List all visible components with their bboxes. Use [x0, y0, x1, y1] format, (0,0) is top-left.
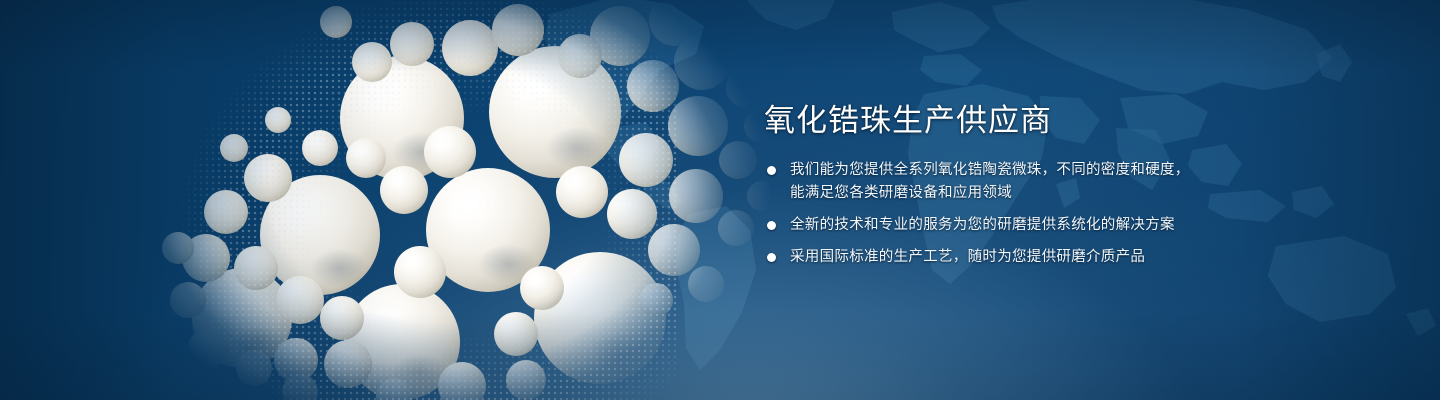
bullet-1-line-2: 能满足您各类研磨设备和应用领域: [790, 182, 1364, 205]
banner-copy: 氧化锆珠生产供应商 我们能为您提供全系列氧化锆陶瓷微珠，不同的密度和硬度， 能满…: [764, 104, 1364, 269]
feature-bullet-2: 全新的技术和专业的服务为您的研磨提供系统化的解决方案: [764, 214, 1364, 237]
feature-bullet-list: 我们能为您提供全系列氧化锆陶瓷微珠，不同的密度和硬度， 能满足您各类研磨设备和应…: [764, 159, 1364, 269]
hero-banner: 氧化锆珠生产供应商 我们能为您提供全系列氧化锆陶瓷微珠，不同的密度和硬度， 能满…: [0, 0, 1440, 400]
bullet-dot-icon: [767, 166, 776, 175]
banner-headline: 氧化锆珠生产供应商: [764, 104, 1364, 137]
bullet-2-line-1: 全新的技术和专业的服务为您的研磨提供系统化的解决方案: [790, 214, 1364, 237]
feature-bullet-3: 采用国际标准的生产工艺，随时为您提供研磨介质产品: [764, 246, 1364, 269]
bullet-dot-icon: [767, 253, 776, 262]
bullet-3-line-1: 采用国际标准的生产工艺，随时为您提供研磨介质产品: [790, 246, 1364, 269]
bullet-1-line-1: 我们能为您提供全系列氧化锆陶瓷微珠，不同的密度和硬度，: [790, 159, 1364, 182]
bullet-dot-icon: [767, 221, 776, 230]
feature-bullet-1: 我们能为您提供全系列氧化锆陶瓷微珠，不同的密度和硬度， 能满足您各类研磨设备和应…: [764, 159, 1364, 205]
